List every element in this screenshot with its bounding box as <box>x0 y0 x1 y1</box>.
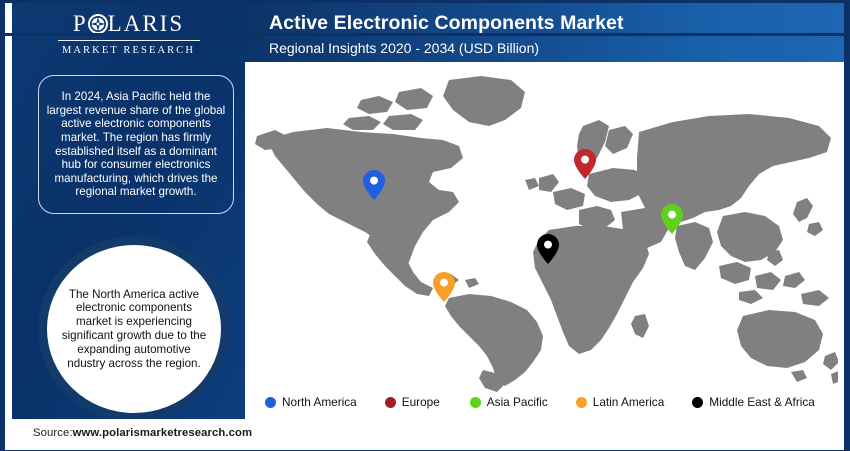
legend-label: North America <box>282 396 357 409</box>
map-pin-latin-america[interactable] <box>433 272 455 307</box>
legend-item-asia-pacific: Asia Pacific <box>470 396 548 409</box>
source-text: Source:www.polarismarketresearch.com <box>33 427 252 439</box>
map-pin-middle-east-africa[interactable] <box>537 234 559 269</box>
legend-dot-icon <box>265 397 276 408</box>
legend-label: Latin America <box>593 396 664 409</box>
legend-label: Asia Pacific <box>487 396 548 409</box>
north-america-callout-text: The North America active electronic comp… <box>47 288 221 371</box>
footer-divider <box>5 33 844 36</box>
source-prefix: Source: <box>33 427 73 439</box>
legend-dot-icon <box>576 397 587 408</box>
map-legend: North America Europe Asia Pacific Latin … <box>245 391 844 413</box>
source-footer: Source:www.polarismarketresearch.com <box>5 419 844 450</box>
legend-label: Middle East & Africa <box>709 396 815 409</box>
asia-pacific-callout-text: In 2024, Asia Pacific held the largest r… <box>45 90 227 199</box>
legend-dot-icon <box>692 397 703 408</box>
legend-item-north-america: North America <box>265 396 357 409</box>
map-pin-europe[interactable] <box>574 149 596 184</box>
legend-dot-icon <box>470 397 481 408</box>
brand-tagline: MARKET RESEARCH <box>12 44 245 57</box>
legend-label: Europe <box>402 396 440 409</box>
source-url: www.polarismarketresearch.com <box>73 427 253 439</box>
legend-item-latin-america: Latin America <box>576 396 664 409</box>
legend-item-europe: Europe <box>385 396 440 409</box>
legend-dot-icon <box>385 397 396 408</box>
infographic-page: P LARIS MARKET RESEARCH In 2024, Asia Pa… <box>0 0 850 451</box>
map-pin-asia-pacific[interactable] <box>661 204 683 239</box>
north-america-callout: The North America active electronic comp… <box>38 236 230 422</box>
page-subtitle: Regional Insights 2020 - 2034 (USD Billi… <box>269 38 844 58</box>
page-title: Active Electronic Components Market <box>269 11 844 35</box>
map-pin-north-america[interactable] <box>363 170 385 205</box>
legend-item-middle-east-africa: Middle East & Africa <box>692 396 815 409</box>
world-map-area <box>245 62 844 419</box>
left-sidebar-panel: P LARIS MARKET RESEARCH In 2024, Asia Pa… <box>12 3 245 419</box>
logo-divider <box>58 40 200 41</box>
asia-pacific-callout: In 2024, Asia Pacific held the largest r… <box>38 75 234 214</box>
compass-star-icon <box>88 14 108 34</box>
